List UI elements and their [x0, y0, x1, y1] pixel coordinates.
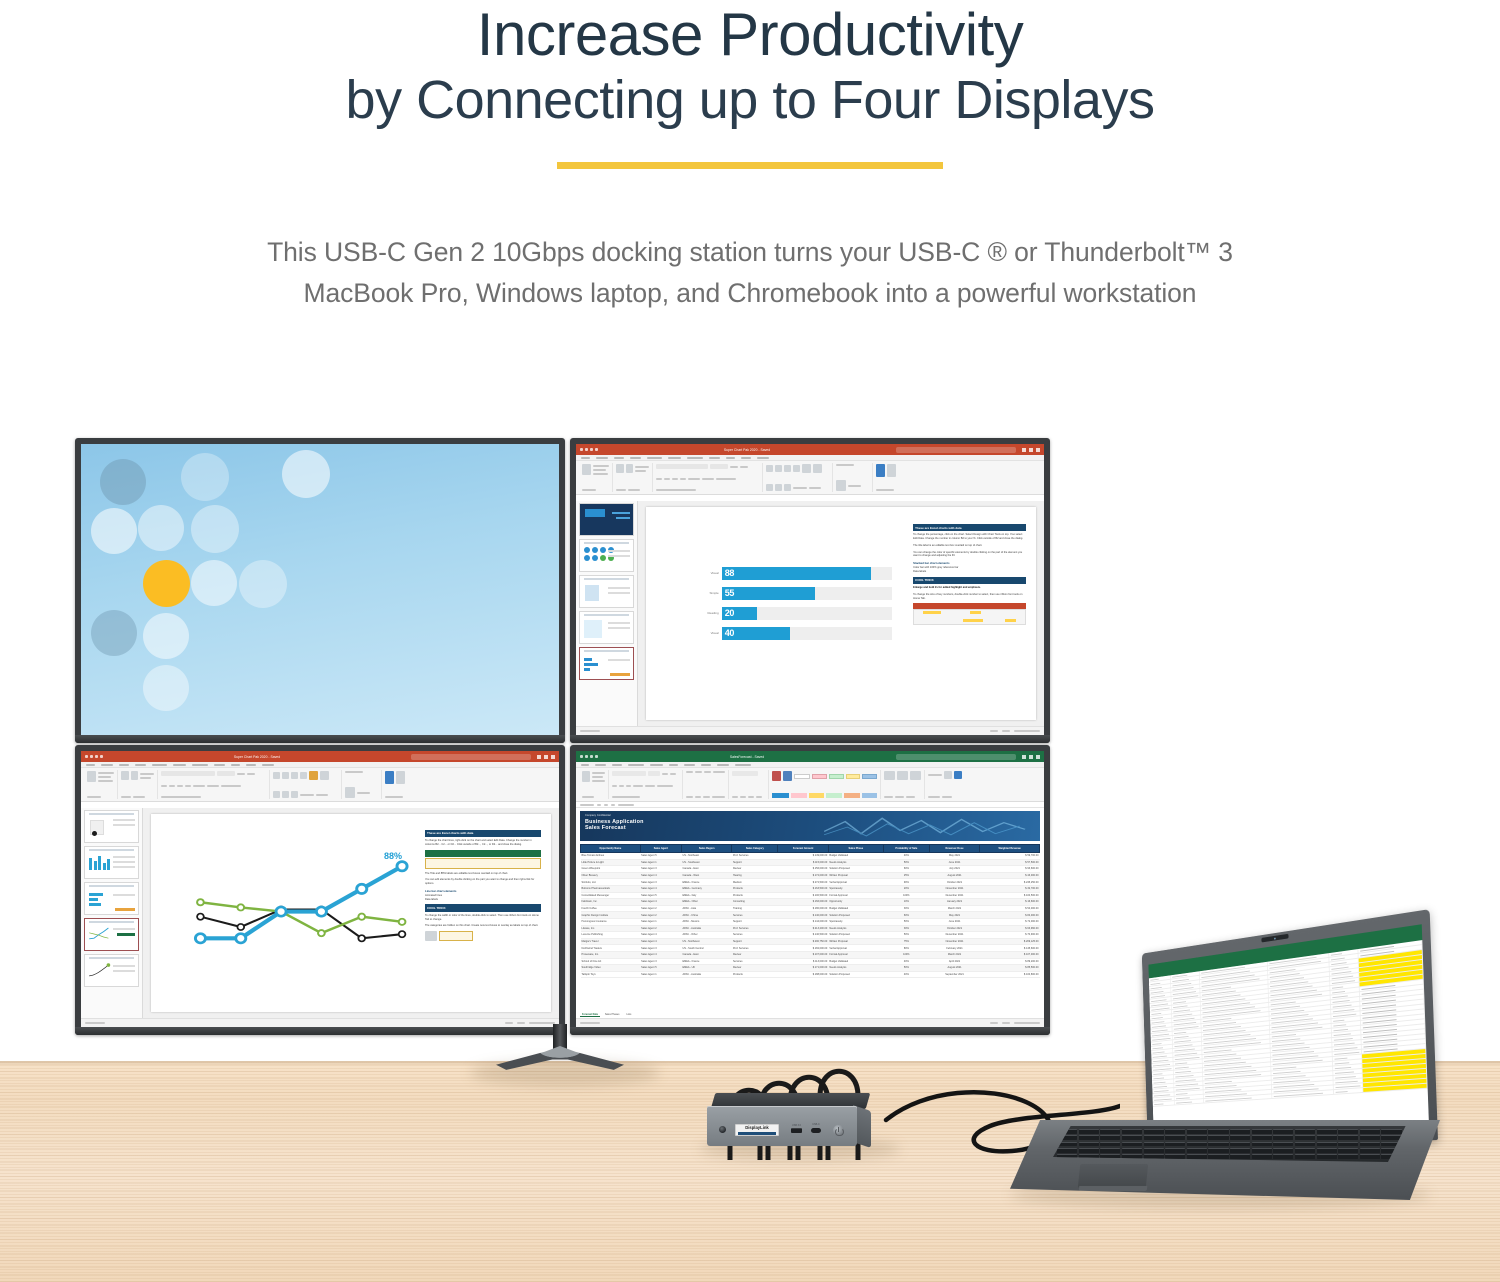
table-cell[interactable]: 50%: [883, 965, 929, 972]
keyboard-key[interactable]: [1208, 1148, 1228, 1153]
table-cell[interactable]: US - South Central: [681, 945, 731, 952]
slide-thumbnail[interactable]: [579, 503, 634, 536]
table-cell[interactable]: School of Fine Art: [581, 958, 641, 965]
keyboard-key[interactable]: [1295, 1135, 1315, 1140]
table-cell[interactable]: Proseware, Inc.: [581, 951, 641, 958]
table-cell[interactable]: Review: [732, 951, 778, 958]
table-cell[interactable]: $ 100,500.00: [980, 892, 1040, 899]
table-cell[interactable]: Support: [732, 918, 778, 925]
table-cell[interactable]: $ 245,250.00: [980, 879, 1040, 886]
table-cell[interactable]: $ 156,000.00: [778, 866, 828, 873]
keyboard-key[interactable]: [1252, 1142, 1272, 1147]
table-cell[interactable]: Solution Proposed: [828, 971, 883, 978]
table-cell[interactable]: APAC - China: [681, 912, 731, 919]
table-cell[interactable]: Spontaneity: [828, 885, 883, 892]
table-cell[interactable]: Prof. Services: [732, 925, 778, 932]
table-cell[interactable]: Green Wisepoint: [581, 866, 641, 873]
table-cell[interactable]: $ 290,750.00: [778, 938, 828, 945]
sheet-tab-lists[interactable]: Lists: [624, 1013, 633, 1017]
table-cell[interactable]: Hearing: [732, 872, 778, 879]
table-cell[interactable]: Needs Analysis: [828, 859, 883, 866]
table-row[interactable]: Fabrikam, Inc.Sales Agent 4EMEA - OtherC…: [581, 899, 1040, 906]
ribbon-group-editing[interactable]: [925, 770, 967, 799]
table-cell[interactable]: $ 171,000.00: [778, 965, 828, 972]
table-cell[interactable]: 60%: [883, 866, 929, 873]
table-cell[interactable]: Sales Agent 4: [640, 899, 681, 906]
table-cell[interactable]: Consolidated Messenger: [581, 892, 641, 899]
keyboard-key[interactable]: [1360, 1148, 1380, 1153]
col-forecast-amount[interactable]: Forecast Amount: [778, 845, 828, 853]
table-cell[interactable]: Graphic Design Institute: [581, 912, 641, 919]
table-cell[interactable]: Spontaneity: [828, 918, 883, 925]
keyboard-key[interactable]: [1079, 1135, 1099, 1140]
table-cell[interactable]: $ 180,000.00: [778, 905, 828, 912]
keyboard-key[interactable]: [1338, 1142, 1358, 1147]
table-cell[interactable]: $ 166,000.00: [778, 899, 828, 906]
table-cell[interactable]: Solution Proposed: [828, 932, 883, 939]
keyboard-key[interactable]: [1230, 1135, 1250, 1140]
table-cell[interactable]: Sales Agent 1: [640, 859, 681, 866]
table-cell[interactable]: Solution Proposed: [828, 866, 883, 873]
table-row[interactable]: Southridge VideoSales Agent 5EMEA - UKRe…: [581, 965, 1040, 972]
table-cell[interactable]: Written Proposal: [828, 938, 883, 945]
sheet-tabs[interactable]: Forecast Data Sales Phases Lists: [580, 1013, 633, 1017]
table-cell[interactable]: 50%: [883, 932, 929, 939]
table-row[interactable]: Graphic Design InstituteSales Agent 2APA…: [581, 912, 1040, 919]
table-cell[interactable]: Little Picture & Light: [581, 859, 641, 866]
table-cell[interactable]: Sales Agent 5: [640, 965, 681, 972]
keyboard-key[interactable]: [1165, 1154, 1185, 1159]
table-cell[interactable]: Sales Agent 5: [640, 853, 681, 860]
spreadsheet-cell[interactable]: [1333, 1088, 1362, 1094]
table-cell[interactable]: Sales Agent 3: [640, 958, 681, 965]
table-cell[interactable]: Needs Analysis: [828, 925, 883, 932]
table-cell[interactable]: EMEA - Other: [681, 899, 731, 906]
quick-access-toolbar[interactable]: [580, 755, 598, 758]
table-cell[interactable]: APAC - Asia: [681, 905, 731, 912]
table-cell[interactable]: 50%: [883, 859, 929, 866]
table-cell[interactable]: January 2021: [929, 899, 979, 906]
table-cell[interactable]: $ 113,000.00: [778, 958, 828, 965]
keyboard-key[interactable]: [1208, 1135, 1228, 1140]
table-cell[interactable]: $ 115,000.00: [778, 859, 828, 866]
table-cell[interactable]: Sales Agent 3: [640, 945, 681, 952]
slide-thumbnail[interactable]: [84, 846, 139, 879]
table-cell[interactable]: Budget Validated: [828, 853, 883, 860]
keyboard-key[interactable]: [1381, 1129, 1401, 1134]
table-cell[interactable]: June 2021: [929, 859, 979, 866]
keyboard-key[interactable]: [1079, 1142, 1099, 1147]
table-cell[interactable]: 50%: [883, 918, 929, 925]
table-cell[interactable]: Bottoms Pharmaceuticals: [581, 885, 641, 892]
slide-thumbnail[interactable]: [84, 810, 139, 843]
table-cell[interactable]: March 2021: [929, 951, 979, 958]
table-row[interactable]: Litware, Inc.Sales Agent 2APAC - Austral…: [581, 925, 1040, 932]
table-cell[interactable]: Products: [732, 892, 778, 899]
table-cell[interactable]: Verbal Approval: [828, 945, 883, 952]
table-cell[interactable]: 10%: [883, 899, 929, 906]
table-cell[interactable]: Support: [732, 938, 778, 945]
keyboard-key[interactable]: [1252, 1135, 1272, 1140]
table-cell[interactable]: March 2021: [929, 905, 979, 912]
keyboard-key[interactable]: [1381, 1154, 1401, 1159]
table-row[interactable]: Fourth CoffeeSales Agent 2APAC - AsiaTra…: [581, 905, 1040, 912]
audio-jack-icon[interactable]: [719, 1126, 726, 1133]
table-cell[interactable]: Fabrikam, Inc.: [581, 899, 641, 906]
table-cell[interactable]: 40%: [883, 971, 929, 978]
table-cell[interactable]: Sales Agent 5: [640, 892, 681, 899]
table-cell[interactable]: Written Proposal: [828, 872, 883, 879]
table-cell[interactable]: $ 272,500.00: [778, 879, 828, 886]
keyboard-key[interactable]: [1122, 1129, 1142, 1134]
slide-thumbnail[interactable]: [579, 539, 634, 572]
table-cell[interactable]: Products: [732, 971, 778, 978]
ribbon-group-clipboard[interactable]: [579, 770, 609, 799]
ribbon[interactable]: [576, 461, 1044, 495]
quick-access-toolbar[interactable]: [580, 448, 598, 451]
slide-thumbnail-selected[interactable]: [84, 918, 139, 951]
keyboard-key[interactable]: [1165, 1142, 1185, 1147]
table-row[interactable]: Bottoms PharmaceuticalsSales Agent 4EMEA…: [581, 885, 1040, 892]
table-cell[interactable]: November 2021: [929, 885, 979, 892]
table-cell[interactable]: Review: [732, 965, 778, 972]
keyboard-key[interactable]: [1187, 1154, 1207, 1159]
table-cell[interactable]: Northwind Traders: [581, 945, 641, 952]
table-cell[interactable]: November 2021: [929, 938, 979, 945]
table-cell[interactable]: APAC - Australia: [681, 925, 731, 932]
table-cell[interactable]: Prof. Services: [732, 945, 778, 952]
keyboard-key[interactable]: [1295, 1129, 1315, 1134]
table-cell[interactable]: 25%: [883, 872, 929, 879]
window-buttons[interactable]: [1022, 448, 1040, 452]
table-cell[interactable]: $ 144,000.00: [778, 918, 828, 925]
table-cell[interactable]: Blue Tomato Airlines: [581, 853, 641, 860]
table-cell[interactable]: Litware, Inc.: [581, 925, 641, 932]
table-cell[interactable]: $ 57,500.00: [980, 859, 1040, 866]
keyboard-key[interactable]: [1273, 1154, 1293, 1159]
keyboard-key[interactable]: [1122, 1142, 1142, 1147]
table-cell[interactable]: Consulting: [732, 899, 778, 906]
keyboard-key[interactable]: [1187, 1135, 1207, 1140]
table-cell[interactable]: 40%: [883, 958, 929, 965]
worksheet[interactable]: Company Confidential Business Applicatio…: [576, 808, 1044, 1018]
keyboard-key[interactable]: [1273, 1142, 1293, 1147]
col-weighted-revenue[interactable]: Weighted Revenue: [980, 845, 1040, 853]
table-cell[interactable]: $ 163,500.00: [778, 885, 828, 892]
table-cell[interactable]: Budget Validated: [828, 905, 883, 912]
ribbon-group-alignment[interactable]: [683, 770, 729, 799]
sheet-tab-sales-phases[interactable]: Sales Phases: [603, 1013, 622, 1017]
ribbon-group-clipboard[interactable]: [84, 770, 118, 799]
keyboard-key[interactable]: [1230, 1148, 1250, 1153]
table-row[interactable]: Margie's TravelSales Agent 4US - Northwe…: [581, 938, 1040, 945]
laptop-screen[interactable]: [1148, 924, 1429, 1140]
keyboard-key[interactable]: [1057, 1154, 1077, 1159]
keyboard-key[interactable]: [1273, 1135, 1293, 1140]
keyboard-key[interactable]: [1317, 1154, 1337, 1159]
table-cell[interactable]: $ 149,000.00: [778, 853, 828, 860]
ribbon-group-slides[interactable]: [118, 770, 158, 799]
table-cell[interactable]: August 2021: [929, 872, 979, 879]
search-box[interactable]: [896, 754, 1016, 760]
slide-thumbnails-pane[interactable]: [576, 501, 638, 726]
ribbon-group-slides[interactable]: [613, 463, 653, 492]
keyboard-key[interactable]: [1079, 1154, 1099, 1159]
table-cell[interactable]: Review: [732, 866, 778, 873]
table-row[interactable]: Humongous InsuranceSales Agent 1APAC - M…: [581, 918, 1040, 925]
ribbon-group-drawing[interactable]: [270, 770, 342, 799]
table-cell[interactable]: Canada - West: [681, 872, 731, 879]
keyboard-key[interactable]: [1079, 1148, 1099, 1153]
slide-thumbnail[interactable]: [579, 575, 634, 608]
table-cell[interactable]: EMEA - France: [681, 879, 731, 886]
table-row[interactable]: Lucerne PublishingSales Agent 4APAC - Ot…: [581, 932, 1040, 939]
table-row[interactable]: Little Picture & LightSales Agent 1US - …: [581, 859, 1040, 866]
col-probability-of-sale[interactable]: Probability of Sale: [883, 845, 929, 853]
monitor-bottom-left[interactable]: Super Chart Pak 2020 - Saved: [75, 745, 565, 1035]
table-row[interactable]: Tailspin ToysSales Agent 1APAC - Austral…: [581, 971, 1040, 978]
laptop-trackpad[interactable]: [1078, 1164, 1149, 1188]
table-cell[interactable]: Sales Agent 2: [640, 905, 681, 912]
table-cell[interactable]: 75%: [883, 938, 929, 945]
table-cell[interactable]: Services: [732, 958, 778, 965]
table-row[interactable]: Blue Tomato AirlinesSales Agent 5US - No…: [581, 853, 1040, 860]
table-cell[interactable]: Solution Proposed: [828, 912, 883, 919]
keyboard-key[interactable]: [1100, 1129, 1120, 1134]
bar-chart[interactable]: Visual 88 Simple: [697, 567, 892, 647]
table-cell[interactable]: 100%: [883, 951, 929, 958]
keyboard-key[interactable]: [1122, 1154, 1142, 1159]
ribbon-group-clipboard[interactable]: [579, 463, 613, 492]
table-cell[interactable]: Lucerne Publishing: [581, 932, 641, 939]
keyboard-key[interactable]: [1144, 1154, 1164, 1159]
keyboard-key[interactable]: [1317, 1142, 1337, 1147]
keyboard-key[interactable]: [1273, 1148, 1293, 1153]
col-sales-agent[interactable]: Sales Agent: [640, 845, 681, 853]
power-button-icon[interactable]: [833, 1125, 844, 1136]
table-cell[interactable]: $ 93,600.00: [980, 866, 1040, 873]
table-cell[interactable]: Medium: [732, 879, 778, 886]
keyboard-key[interactable]: [1230, 1154, 1250, 1159]
table-cell[interactable]: Verbal Approval: [828, 879, 883, 886]
table-cell[interactable]: Formal Approval: [828, 951, 883, 958]
sheet-tab-forecast-data[interactable]: Forecast Data: [580, 1013, 600, 1017]
monitor-bottom-right[interactable]: SalesForecast - Saved: [570, 745, 1050, 1035]
keyboard-key[interactable]: [1122, 1135, 1142, 1140]
table-cell[interactable]: August 2021: [929, 965, 979, 972]
table-cell[interactable]: EMEA - UK: [681, 965, 731, 972]
keyboard-key[interactable]: [1165, 1148, 1185, 1153]
table-cell[interactable]: Sales Agent 3: [640, 879, 681, 886]
ribbon-group-editing[interactable]: [833, 463, 873, 492]
keyboard-key[interactable]: [1338, 1129, 1358, 1134]
table-cell[interactable]: May 2021: [929, 853, 979, 860]
keyboard-key[interactable]: [1338, 1148, 1358, 1153]
table-row[interactable]: Consolidated MessengerSales Agent 5EMEA …: [581, 892, 1040, 899]
line-chart[interactable]: 88%: [187, 858, 411, 961]
keyboard-key[interactable]: [1187, 1142, 1207, 1147]
table-cell[interactable]: APAC - Mexico: [681, 918, 731, 925]
keyboard-key[interactable]: [1208, 1154, 1228, 1159]
window-buttons[interactable]: [1022, 755, 1040, 759]
powerpoint-window-line[interactable]: Super Chart Pak 2020 - Saved: [81, 751, 559, 1027]
ribbon-group-font[interactable]: [158, 770, 270, 799]
col-sales-category[interactable]: Sales Category: [732, 845, 778, 853]
ribbon-group-designer[interactable]: [382, 770, 418, 799]
table-cell[interactable]: Canada - East: [681, 951, 731, 958]
table-cell[interactable]: Humongous Insurance: [581, 918, 641, 925]
quick-access-toolbar[interactable]: [85, 755, 103, 758]
slide-thumbnails-pane[interactable]: [81, 808, 143, 1018]
spreadsheet-cell[interactable]: [1174, 1099, 1204, 1105]
keyboard-key[interactable]: [1317, 1148, 1337, 1153]
slide-thumbnail[interactable]: [579, 611, 634, 644]
ribbon[interactable]: [576, 768, 1044, 802]
table-cell[interactable]: $ 32,700.00: [980, 885, 1040, 892]
keyboard-key[interactable]: [1208, 1142, 1228, 1147]
keyboard-key[interactable]: [1122, 1148, 1142, 1153]
keyboard-key[interactable]: [1079, 1129, 1099, 1134]
search-box[interactable]: [411, 754, 531, 760]
table-cell[interactable]: APAC - Australia: [681, 971, 731, 978]
laptop-keyboard[interactable]: [1053, 1126, 1406, 1162]
keyboard-key[interactable]: [1252, 1148, 1272, 1153]
table-cell[interactable]: July 2021: [929, 866, 979, 873]
ppt-status-bar[interactable]: [81, 1018, 559, 1027]
powerpoint-window-bar[interactable]: Super Chart Pak 2020 - Saved: [576, 444, 1044, 735]
monitor-top-right[interactable]: Super Chart Pak 2020 - Saved: [570, 438, 1050, 743]
table-cell[interactable]: Tailspin Toys: [581, 971, 641, 978]
table-cell[interactable]: Services: [732, 912, 778, 919]
keyboard-key[interactable]: [1338, 1135, 1358, 1140]
keyboard-key[interactable]: [1230, 1142, 1250, 1147]
keyboard-key[interactable]: [1187, 1129, 1207, 1134]
table-cell[interactable]: 90%: [883, 879, 929, 886]
table-cell[interactable]: December 2021: [929, 892, 979, 899]
keyboard-key[interactable]: [1252, 1129, 1272, 1134]
table-cell[interactable]: Sales Agent 1: [640, 971, 681, 978]
slide-thumbnail[interactable]: [84, 882, 139, 915]
table-row[interactable]: Proseware, Inc.Sales Agent 4Canada - Eas…: [581, 951, 1040, 958]
search-box[interactable]: [896, 447, 1016, 453]
table-cell[interactable]: Sales Agent 2: [640, 925, 681, 932]
table-cell[interactable]: Sales Agent 1: [640, 918, 681, 925]
keyboard-key[interactable]: [1208, 1129, 1228, 1134]
table-cell[interactable]: $ 213,200.00: [778, 925, 828, 932]
keyboard-key[interactable]: [1100, 1148, 1120, 1153]
table-cell[interactable]: Services: [732, 932, 778, 939]
table-cell[interactable]: Sales Agent 4: [640, 872, 681, 879]
table-cell[interactable]: Needs Analysis: [828, 965, 883, 972]
ribbon-group-font[interactable]: [609, 770, 683, 799]
table-cell[interactable]: US - Southeast: [681, 859, 731, 866]
monitor-top-left[interactable]: [75, 438, 565, 743]
keyboard-key[interactable]: [1295, 1154, 1315, 1159]
table-cell[interactable]: Sales Agent 4: [640, 951, 681, 958]
table-cell[interactable]: May 2021: [929, 912, 979, 919]
laptop[interactable]: [1010, 908, 1440, 1198]
table-cell[interactable]: Sales Agent 3: [640, 866, 681, 873]
table-row[interactable]: Northwind TradersSales Agent 3US - South…: [581, 945, 1040, 952]
docking-station[interactable]: DisplayLink USB 3.0 USB-C: [707, 1093, 872, 1151]
table-cell[interactable]: Simbolo, Ltd.: [581, 879, 641, 886]
table-cell[interactable]: US - Northeast: [681, 853, 731, 860]
table-cell[interactable]: February 2021: [929, 945, 979, 952]
keyboard-key[interactable]: [1295, 1142, 1315, 1147]
keyboard-key[interactable]: [1295, 1148, 1315, 1153]
table-cell[interactable]: Prof. Services: [732, 853, 778, 860]
ribbon-group-designer[interactable]: [873, 463, 907, 492]
keyboard-key[interactable]: [1100, 1135, 1120, 1140]
table-cell[interactable]: Southridge Video: [581, 965, 641, 972]
table-cell[interactable]: $ 140,000.00: [778, 912, 828, 919]
table-cell[interactable]: $ 107,000.00: [778, 951, 828, 958]
keyboard-key[interactable]: [1381, 1148, 1401, 1153]
table-cell[interactable]: Formal Approval: [828, 892, 883, 899]
table-cell[interactable]: 30%: [883, 905, 929, 912]
table-row[interactable]: Oliver BrewerySales Agent 4Canada - West…: [581, 872, 1040, 879]
table-cell[interactable]: April 2021: [929, 958, 979, 965]
table-cell[interactable]: 60%: [883, 912, 929, 919]
table-cell[interactable]: Training: [732, 905, 778, 912]
table-cell[interactable]: Sales Agent 4: [640, 938, 681, 945]
slide-thumbnail[interactable]: [84, 954, 139, 987]
table-cell[interactable]: Sales Agent 4: [640, 932, 681, 939]
table-cell[interactable]: Margie's Travel: [581, 938, 641, 945]
table-cell[interactable]: Sales Agent 4: [640, 885, 681, 892]
keyboard-key[interactable]: [1100, 1142, 1120, 1147]
keyboard-key[interactable]: [1144, 1142, 1164, 1147]
table-cell[interactable]: Budget Validated: [828, 958, 883, 965]
keyboard-key[interactable]: [1144, 1129, 1164, 1134]
usb-a-port[interactable]: USB 3.0: [791, 1128, 802, 1133]
keyboard-key[interactable]: [1360, 1154, 1380, 1159]
spreadsheet-cell[interactable]: [1153, 1101, 1175, 1106]
table-cell[interactable]: Opportunity: [828, 899, 883, 906]
table-cell[interactable]: Canada - East: [681, 866, 731, 873]
usb-c-port[interactable]: USB-C: [811, 1128, 821, 1133]
keyboard-key[interactable]: [1144, 1135, 1164, 1140]
ribbon-group-styles[interactable]: [769, 770, 881, 799]
table-cell[interactable]: $ 100,500.00: [778, 892, 828, 899]
keyboard-key[interactable]: [1187, 1148, 1207, 1153]
table-row[interactable]: Simbolo, Ltd.Sales Agent 3EMEA - FranceM…: [581, 879, 1040, 886]
keyboard-key[interactable]: [1057, 1129, 1077, 1134]
ppt-status-bar[interactable]: [576, 726, 1044, 735]
table-cell[interactable]: December 2021: [929, 932, 979, 939]
table-cell[interactable]: $ 182,000.00: [778, 945, 828, 952]
current-slide[interactable]: Visual 88 Simple: [646, 507, 1036, 720]
table-cell[interactable]: 80%: [883, 945, 929, 952]
keyboard-key[interactable]: [1360, 1129, 1380, 1134]
ribbon-group-drawing[interactable]: [763, 463, 833, 492]
ribbon-group-cells[interactable]: [881, 770, 925, 799]
ribbon-group-font[interactable]: [653, 463, 763, 492]
table-cell[interactable]: June 2021: [929, 918, 979, 925]
window-buttons[interactable]: [537, 755, 555, 759]
keyboard-key[interactable]: [1165, 1135, 1185, 1140]
keyboard-key[interactable]: [1338, 1154, 1358, 1159]
ribbon-group-number[interactable]: [729, 770, 769, 799]
ribbon[interactable]: [81, 768, 559, 802]
table-cell[interactable]: Fourth Coffee: [581, 905, 641, 912]
keyboard-key[interactable]: [1252, 1154, 1272, 1159]
keyboard-key[interactable]: [1057, 1142, 1077, 1147]
table-cell[interactable]: 40%: [883, 853, 929, 860]
table-cell[interactable]: EMEA - Italy: [681, 892, 731, 899]
keyboard-key[interactable]: [1273, 1129, 1293, 1134]
table-cell[interactable]: US - Northwest: [681, 938, 731, 945]
